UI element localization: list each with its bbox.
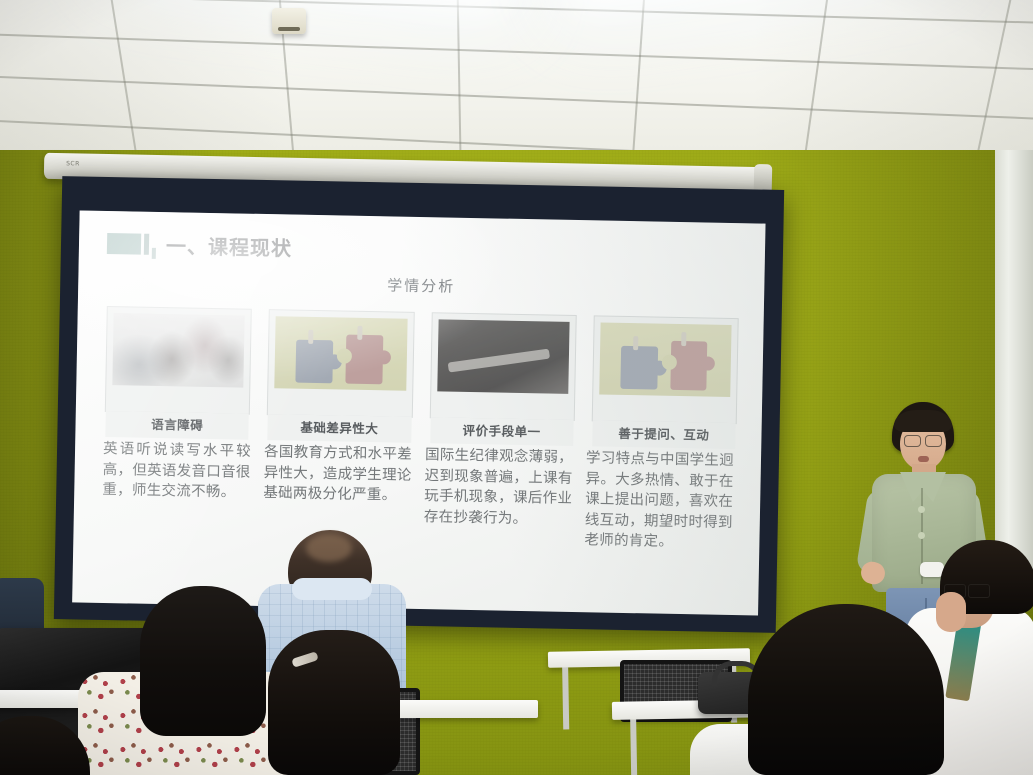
presentation-slide: 一、课程现状 学情分析 语言障碍 bbox=[72, 210, 765, 615]
card-caption: 善于提问、互动 bbox=[592, 420, 736, 449]
puzzle-piece-blue-icon bbox=[620, 346, 658, 390]
puzzle-pieces-photo bbox=[599, 322, 732, 397]
puzzle-piece-blue-icon bbox=[296, 339, 334, 383]
glasses-icon bbox=[904, 435, 942, 445]
desk bbox=[388, 700, 538, 718]
presenter-fringe bbox=[894, 410, 952, 432]
classroom-photo: SCR 一、课程现状 学情分析 语言障碍 bbox=[0, 0, 1033, 775]
exam-hall-photo bbox=[437, 319, 570, 394]
slide-title: 一、课程现状 bbox=[166, 230, 293, 261]
title-accent-bar-tall-icon bbox=[144, 234, 149, 255]
slide-text-columns: 英语听说读写水平较高，但英语发音口音很重，师生交流不畅。 各国教育方式和水平差异… bbox=[101, 439, 743, 554]
card-frame bbox=[106, 307, 251, 414]
slide-card-row: 语言障碍 基础差异性大 bbox=[105, 307, 737, 449]
man-glasses-hand bbox=[936, 592, 966, 632]
slide-title-row: 一、课程现状 bbox=[107, 229, 293, 262]
slide-card: 基础差异性大 bbox=[268, 310, 414, 443]
card-frame bbox=[592, 316, 737, 423]
slide-column-text: 学习特点与中国学生迥异。大多热情、敢于在课上提出问题，喜欢在线互动，期望时时得到… bbox=[584, 448, 734, 554]
woman-hair-clip-head bbox=[268, 630, 400, 775]
figurine-icon bbox=[681, 332, 686, 346]
figurine-icon bbox=[357, 325, 362, 339]
figurine-icon bbox=[308, 330, 313, 344]
classroom-discussion-photo bbox=[112, 313, 245, 388]
presenter-mouth bbox=[918, 456, 929, 462]
title-accent-bar-short-icon bbox=[152, 248, 156, 259]
housing-label: SCR bbox=[66, 160, 80, 167]
slide-subtitle: 学情分析 bbox=[78, 268, 764, 302]
slide-card: 善于提问、互动 bbox=[592, 316, 738, 449]
card-frame bbox=[430, 313, 575, 420]
projection-screen: 一、课程现状 学情分析 语言障碍 bbox=[54, 176, 784, 633]
slide-card: 评价手段单一 bbox=[430, 313, 576, 446]
card-frame bbox=[268, 310, 413, 417]
card-caption: 语言障碍 bbox=[105, 411, 249, 440]
slide-column-text: 国际生纪律观念薄弱，迟到现象普遍，上课有玩手机现象，课后作业存在抄袭行为。 bbox=[423, 445, 573, 551]
puzzle-piece-red-icon bbox=[346, 335, 384, 385]
button-icon bbox=[918, 506, 925, 513]
puzzle-pieces-photo bbox=[275, 316, 408, 391]
whiteboard-edge bbox=[995, 150, 1033, 570]
woman-floral-blouse-hair bbox=[140, 586, 266, 736]
figurine-icon bbox=[633, 336, 638, 350]
card-caption: 评价手段单一 bbox=[430, 417, 574, 446]
button-icon bbox=[918, 532, 925, 539]
title-accent-block-icon bbox=[107, 233, 141, 255]
puzzle-piece-red-icon bbox=[670, 341, 708, 391]
slide-column-text: 英语听说读写水平较高，但英语发音口音很重，师生交流不畅。 bbox=[101, 439, 251, 545]
card-caption: 基础差异性大 bbox=[268, 414, 412, 443]
slide-card: 语言障碍 bbox=[105, 307, 251, 440]
